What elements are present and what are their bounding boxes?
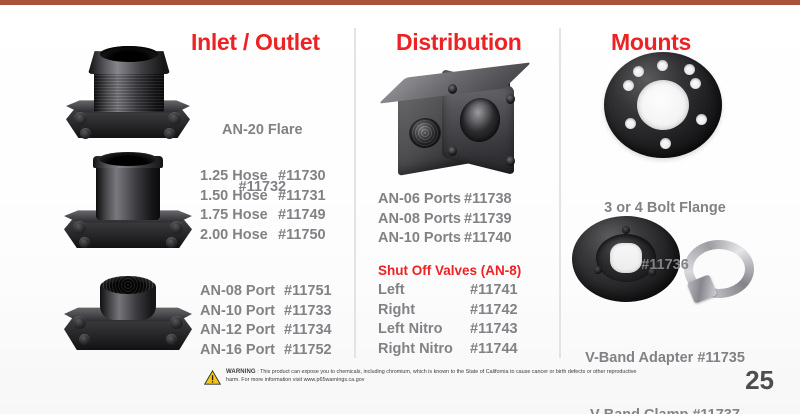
distribution-part-number: #11739: [464, 210, 512, 230]
valve-label: Right: [378, 301, 470, 321]
warning-body: : This product can expose you to chemica…: [226, 369, 636, 383]
port-part-number: #11733: [284, 302, 332, 322]
distribution-spec-table: AN-06 Ports #11738 AN-08 Ports #11739 AN…: [378, 190, 512, 249]
column-header-inlet-outlet: Inlet / Outlet: [191, 29, 320, 56]
port-size-label: AN-12 Port: [200, 321, 284, 341]
column-divider-2: [559, 28, 561, 358]
warning-text: WARNING : This product can expose you to…: [226, 369, 644, 384]
table-row: AN-10 Port #11733: [200, 302, 332, 322]
port-part-number: #11751: [284, 282, 332, 302]
table-row: AN-12 Port #11734: [200, 321, 332, 341]
prop-65-warning: WARNING : This product can expose you to…: [204, 369, 644, 390]
hose-spec-table: 1.25 Hose #11730 1.50 Hose #11731 1.75 H…: [200, 167, 326, 245]
distribution-block-image: [382, 66, 534, 182]
port-part-number: #11734: [284, 321, 332, 341]
hose-size-label: 1.25 Hose: [200, 167, 278, 187]
valve-part-number: #11744: [470, 340, 518, 360]
hose-part-number: #11731: [278, 187, 326, 207]
table-row: Left #11741: [378, 281, 518, 301]
distribution-port-label: AN-10 Ports: [378, 229, 464, 249]
v-band-caption: V-Band Adapter #11735 V-Band Clamp #1173…: [570, 311, 760, 414]
bolt-flange-part: #11736: [575, 256, 755, 275]
valve-part-number: #11742: [470, 301, 518, 321]
top-accent-bar: [0, 0, 800, 5]
an-port-spec-table: AN-08 Port #11751 AN-10 Port #11733 AN-1…: [200, 282, 332, 360]
v-band-clamp-label: V-Band Clamp #11737: [570, 406, 760, 414]
port-size-label: AN-10 Port: [200, 302, 284, 322]
bolt-flange-ring-image: [604, 52, 726, 164]
hose-size-label: 1.50 Hose: [200, 187, 278, 207]
bolt-flange-caption: 3 or 4 Bolt Flange #11736: [575, 161, 755, 313]
table-row: Right Nitro #11744: [378, 340, 518, 360]
table-row: Right #11742: [378, 301, 518, 321]
port-size-label: AN-08 Port: [200, 282, 284, 302]
an-20-flare-label: AN-20 Flare: [222, 121, 303, 140]
catalog-page: Inlet / Outlet Distribution Mounts: [0, 0, 800, 414]
distribution-part-number: #11740: [464, 229, 512, 249]
column-header-distribution: Distribution: [396, 29, 521, 56]
distribution-port-label: AN-08 Ports: [378, 210, 464, 230]
valve-part-number: #11741: [470, 281, 518, 301]
table-row: AN-08 Ports #11739: [378, 210, 512, 230]
table-row: 1.50 Hose #11731: [200, 187, 326, 207]
table-row: Left Nitro #11743: [378, 320, 518, 340]
port-part-number: #11752: [284, 341, 332, 361]
column-divider-1: [354, 28, 356, 358]
hose-size-label: 2.00 Hose: [200, 226, 278, 246]
table-row: AN-10 Ports #11740: [378, 229, 512, 249]
distribution-part-number: #11738: [464, 190, 512, 210]
hose-size-label: 1.75 Hose: [200, 206, 278, 226]
valve-part-number: #11743: [470, 320, 518, 340]
table-row: AN-06 Ports #11738: [378, 190, 512, 210]
hose-part-number: #11730: [278, 167, 326, 187]
an-port-flange-fitting-image: [58, 272, 198, 364]
hose-barb-flange-fitting-image: [58, 152, 198, 260]
an-20-flare-fitting-image: [58, 46, 198, 156]
valve-label: Right Nitro: [378, 340, 470, 360]
hose-part-number: #11750: [278, 226, 326, 246]
bolt-flange-label: 3 or 4 Bolt Flange: [575, 199, 755, 218]
table-row: 2.00 Hose #11750: [200, 226, 326, 246]
table-row: AN-08 Port #11751: [200, 282, 332, 302]
shut-off-valves-header: Shut Off Valves (AN-8): [378, 263, 521, 278]
warning-label: WARNING: [226, 369, 256, 375]
shut-off-valves-table: Left #11741 Right #11742 Left Nitro #117…: [378, 281, 518, 359]
v-band-adapter-label: V-Band Adapter #11735: [570, 349, 760, 368]
page-number: 25: [745, 365, 774, 396]
port-size-label: AN-16 Port: [200, 341, 284, 361]
table-row: AN-16 Port #11752: [200, 341, 332, 361]
hose-part-number: #11749: [278, 206, 326, 226]
distribution-port-label: AN-06 Ports: [378, 190, 464, 210]
valve-label: Left: [378, 281, 470, 301]
valve-label: Left Nitro: [378, 320, 470, 340]
table-row: 1.25 Hose #11730: [200, 167, 326, 187]
table-row: 1.75 Hose #11749: [200, 206, 326, 226]
warning-triangle-icon: [204, 370, 221, 390]
